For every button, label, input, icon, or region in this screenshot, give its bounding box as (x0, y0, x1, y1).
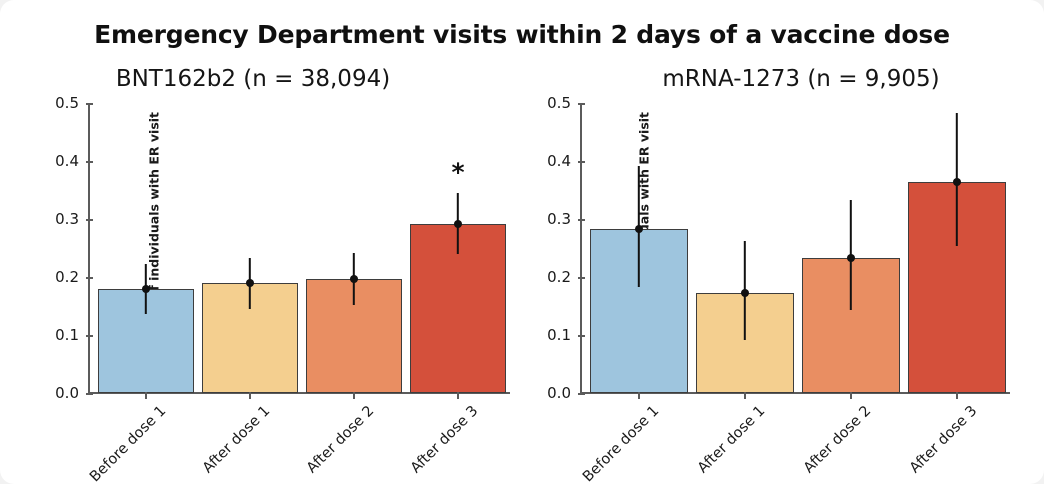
y-tick-label-left-2: 0.2 (55, 268, 79, 286)
error-point-right-3 (953, 178, 961, 186)
y-tick-label-left-3: 0.3 (55, 210, 79, 228)
x-tick-left-2 (353, 392, 355, 399)
y-tick-right-2 (578, 277, 585, 279)
error-point-left-0 (142, 285, 150, 293)
y-tick-label-right-3: 0.3 (547, 210, 571, 228)
error-point-right-1 (741, 289, 749, 297)
y-tick-label-right-5: 0.5 (547, 94, 571, 112)
y-tick-right-4 (578, 161, 585, 163)
y-tick-left-2 (86, 277, 93, 279)
y-tick-right-5 (578, 103, 585, 105)
y-tick-label-right-1: 0.1 (547, 326, 571, 344)
x-tick-left-3 (457, 392, 459, 399)
y-tick-label-right-2: 0.2 (547, 268, 571, 286)
x-tick-label-left-1: After dose 1 (200, 403, 273, 476)
significance-star-left-0: * (451, 160, 464, 185)
y-axis-line-left (88, 103, 90, 394)
y-axis-line-right (580, 103, 582, 394)
panel-title-right: mRNA-1273 (n = 9,905) (540, 66, 1044, 92)
error-point-left-2 (350, 275, 358, 283)
x-tick-label-right-2: After dose 2 (801, 403, 874, 476)
x-tick-left-0 (145, 392, 147, 399)
x-tick-label-right-1: After dose 1 (695, 403, 768, 476)
x-tick-right-3 (956, 392, 958, 399)
y-tick-label-left-1: 0.1 (55, 326, 79, 344)
chart-panel-bnt162b2: BNT162b2 (n = 38,094) Percentage of indi… (0, 0, 522, 484)
y-tick-left-4 (86, 161, 93, 163)
x-tick-label-left-2: After dose 2 (304, 403, 377, 476)
plot-area-left: Percentage of individuals with ER visit … (88, 103, 510, 393)
y-tick-left-3 (86, 219, 93, 221)
x-tick-label-left-3: After dose 3 (408, 403, 481, 476)
y-tick-left-1 (86, 335, 93, 337)
x-tick-right-1 (744, 392, 746, 399)
figure-card: Emergency Department visits within 2 day… (0, 0, 1044, 484)
y-tick-label-right-0: 0.0 (547, 384, 571, 402)
panel-title-left: BNT162b2 (n = 38,094) (0, 66, 514, 92)
y-tick-label-right-4: 0.4 (547, 152, 571, 170)
x-tick-right-2 (850, 392, 852, 399)
x-tick-right-0 (638, 392, 640, 399)
y-tick-right-1 (578, 335, 585, 337)
x-tick-label-right-0: Before dose 1 (580, 403, 662, 484)
y-tick-label-left-5: 0.5 (55, 94, 79, 112)
error-point-left-3 (454, 220, 462, 228)
y-tick-right-0 (578, 393, 585, 395)
y-tick-label-left-0: 0.0 (55, 384, 79, 402)
x-tick-label-left-0: Before dose 1 (87, 403, 169, 484)
error-point-right-0 (635, 225, 643, 233)
y-tick-label-left-4: 0.4 (55, 152, 79, 170)
x-tick-label-right-3: After dose 3 (907, 403, 980, 476)
y-tick-left-0 (86, 393, 93, 395)
error-point-right-2 (847, 254, 855, 262)
x-tick-left-1 (249, 392, 251, 399)
error-point-left-1 (246, 279, 254, 287)
chart-panel-mrna1273: mRNA-1273 (n = 9,905) Percentage of indi… (522, 0, 1044, 484)
y-tick-right-3 (578, 219, 585, 221)
y-tick-left-5 (86, 103, 93, 105)
plot-area-right: Percentage of individuals with ER visit … (580, 103, 1010, 393)
